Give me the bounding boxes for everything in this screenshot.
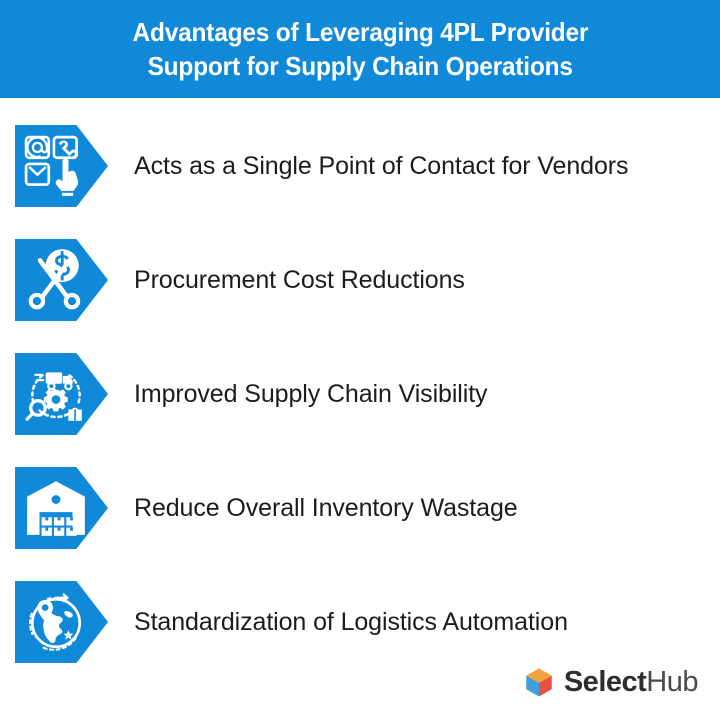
icon-badge-visibility: [15, 353, 108, 435]
list-item-label: Reduce Overall Inventory Wastage: [134, 493, 518, 523]
list-item: Procurement Cost Reductions: [0, 239, 720, 321]
icon-badge-inventory: [15, 467, 108, 549]
advantages-list: Acts as a Single Point of Contact for Ve…: [0, 98, 720, 658]
list-item-label: Standardization of Logistics Automation: [134, 607, 568, 637]
truck-gear-magnifier-package-icon: [23, 361, 89, 427]
list-item-label: Acts as a Single Point of Contact for Ve…: [134, 151, 628, 181]
logo-hub-text: Hub: [646, 666, 698, 698]
list-item: Improved Supply Chain Visibility: [0, 353, 720, 435]
list-item-label: Improved Supply Chain Visibility: [134, 379, 487, 409]
infographic-canvas: Advantages of Leveraging 4PL Provider Su…: [0, 0, 720, 720]
logo-select-text: Select: [564, 666, 646, 698]
warehouse-gear-boxes-icon: [23, 475, 89, 541]
page-title-line-1: Advantages of Leveraging 4PL Provider: [132, 15, 588, 49]
list-item: Standardization of Logistics Automation: [0, 581, 720, 663]
globe-location-pin-icon: [23, 589, 89, 655]
selecthub-logo[interactable]: SelectHub: [522, 662, 698, 702]
icon-badge-cost: [15, 239, 108, 321]
scissors-cutting-dollar-icon: [23, 247, 89, 313]
logo-wordmark: SelectHub: [564, 665, 698, 699]
cube-icon: [522, 665, 556, 699]
list-item: Reduce Overall Inventory Wastage: [0, 467, 720, 549]
icon-badge-globe: [15, 581, 108, 663]
header-banner: Advantages of Leveraging 4PL Provider Su…: [0, 0, 720, 98]
contact-channels-hand-icon: [23, 133, 89, 199]
icon-badge-contact: [15, 125, 108, 207]
page-title-line-2: Support for Supply Chain Operations: [147, 49, 572, 83]
list-item-label: Procurement Cost Reductions: [134, 265, 465, 295]
list-item: Acts as a Single Point of Contact for Ve…: [0, 125, 720, 207]
